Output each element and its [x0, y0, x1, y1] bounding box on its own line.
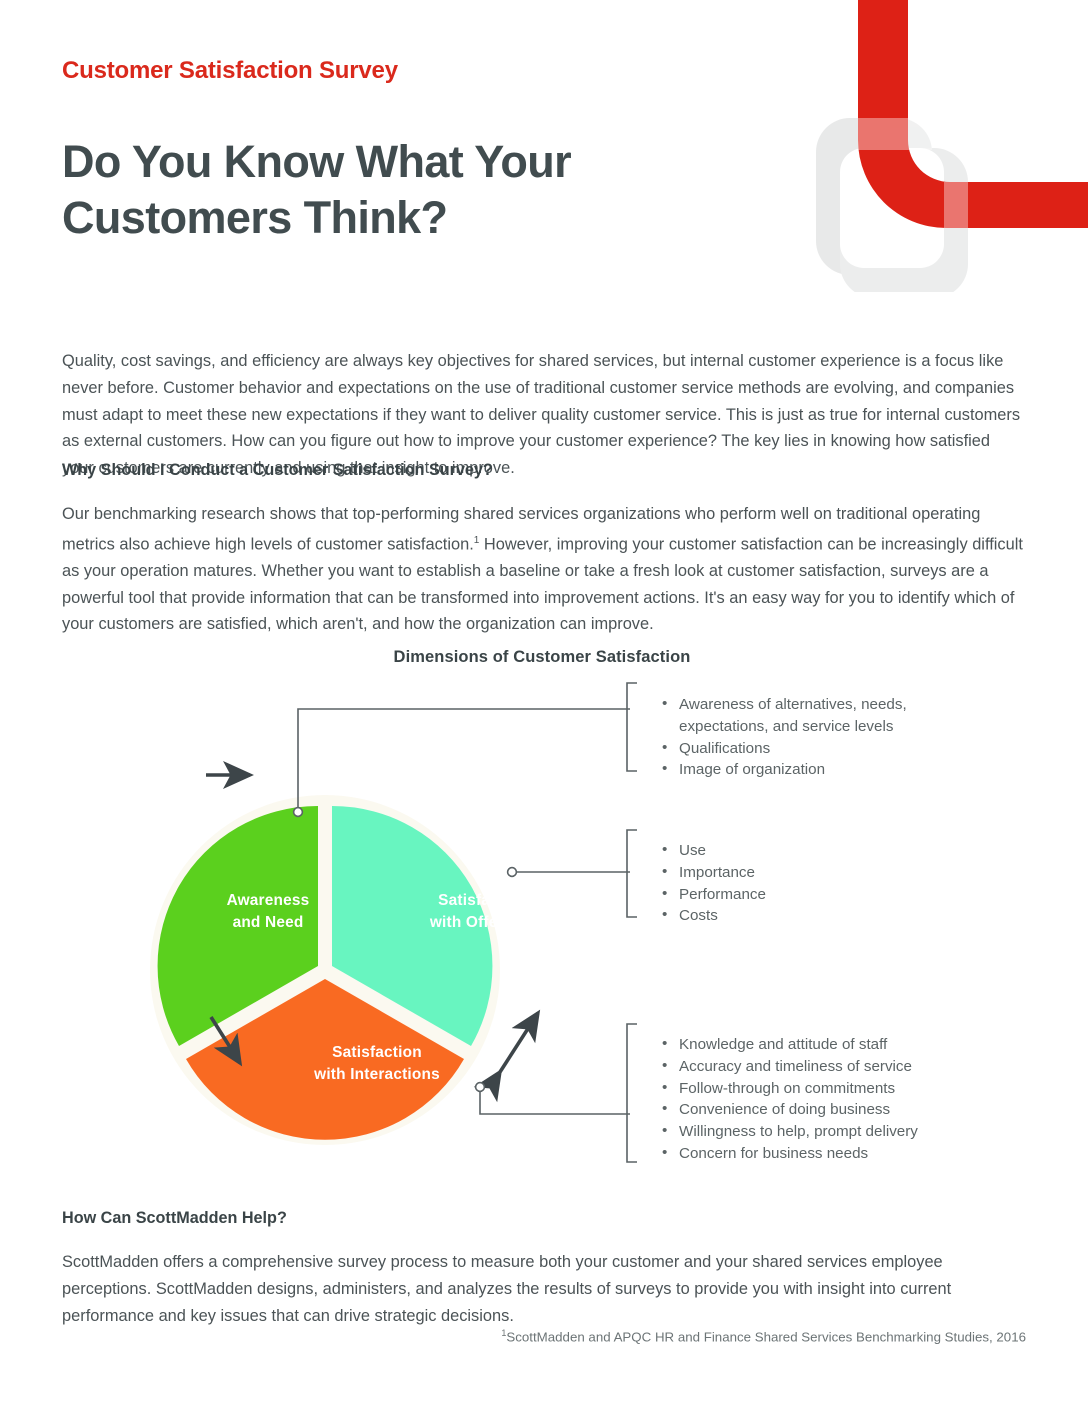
callout-item: Qualifications: [660, 738, 1040, 760]
callout-item: Image of organization: [660, 759, 1040, 781]
logo-gray-squares: [816, 118, 968, 292]
pie-label-awareness: Awareness and Need: [178, 890, 358, 934]
logo-overlap-tint: [858, 118, 968, 228]
help-section-body: ScottMadden offers a comprehensive surve…: [62, 1249, 992, 1329]
arrow-offerings-interactions: [500, 1013, 538, 1072]
why-section-heading: Why Should I Conduct a Customer Satisfac…: [62, 461, 493, 480]
scottmadden-logo-mark: [800, 0, 1088, 292]
callout-item: Follow-through on commitments: [660, 1078, 1050, 1100]
pie-label-offerings: Satisfaction with Offerings: [388, 890, 578, 934]
footnote: 1ScottMadden and APQC HR and Finance Sha…: [501, 1328, 1026, 1344]
help-section-heading: How Can ScottMadden Help?: [62, 1209, 287, 1228]
callout-item: Accuracy and timeliness of service: [660, 1056, 1050, 1078]
callout-interactions: Knowledge and attitude of staff Accuracy…: [660, 1034, 1050, 1165]
eyebrow-title: Customer Satisfaction Survey: [62, 57, 398, 85]
footnote-text: ScottMadden and APQC HR and Finance Shar…: [506, 1329, 1026, 1344]
dimensions-diagram: Awareness and Need Satisfaction with Off…: [0, 672, 1088, 1182]
callout-item: Willingness to help, prompt delivery: [660, 1121, 1050, 1143]
logo-red-hook: [858, 0, 1088, 228]
diagram-title: Dimensions of Customer Satisfaction: [0, 648, 1088, 667]
callout-awareness: Awareness of alternatives, needs, expect…: [660, 694, 1040, 781]
callout-item: Knowledge and attitude of staff: [660, 1034, 1050, 1056]
page-title: Do You Know What Your Customers Think?: [62, 134, 722, 246]
diagram-title-text: Dimensions of Customer Satisfaction: [394, 648, 691, 666]
callout-item: Importance: [660, 862, 1040, 884]
callout-item: Convenience of doing business: [660, 1099, 1050, 1121]
callout-offerings: Use Importance Performance Costs: [660, 840, 1040, 927]
callout-item: Performance: [660, 884, 1040, 906]
callout-leader-interactions: [476, 1024, 637, 1162]
pie-label-interactions: Satisfaction with Interactions: [272, 1042, 482, 1086]
why-section-body: Our benchmarking research shows that top…: [62, 501, 1028, 637]
callout-item: Awareness of alternatives, needs, expect…: [660, 694, 1040, 738]
callout-item: Costs: [660, 905, 1040, 927]
callout-item: Use: [660, 840, 1040, 862]
callout-item: Concern for business needs: [660, 1143, 1050, 1165]
